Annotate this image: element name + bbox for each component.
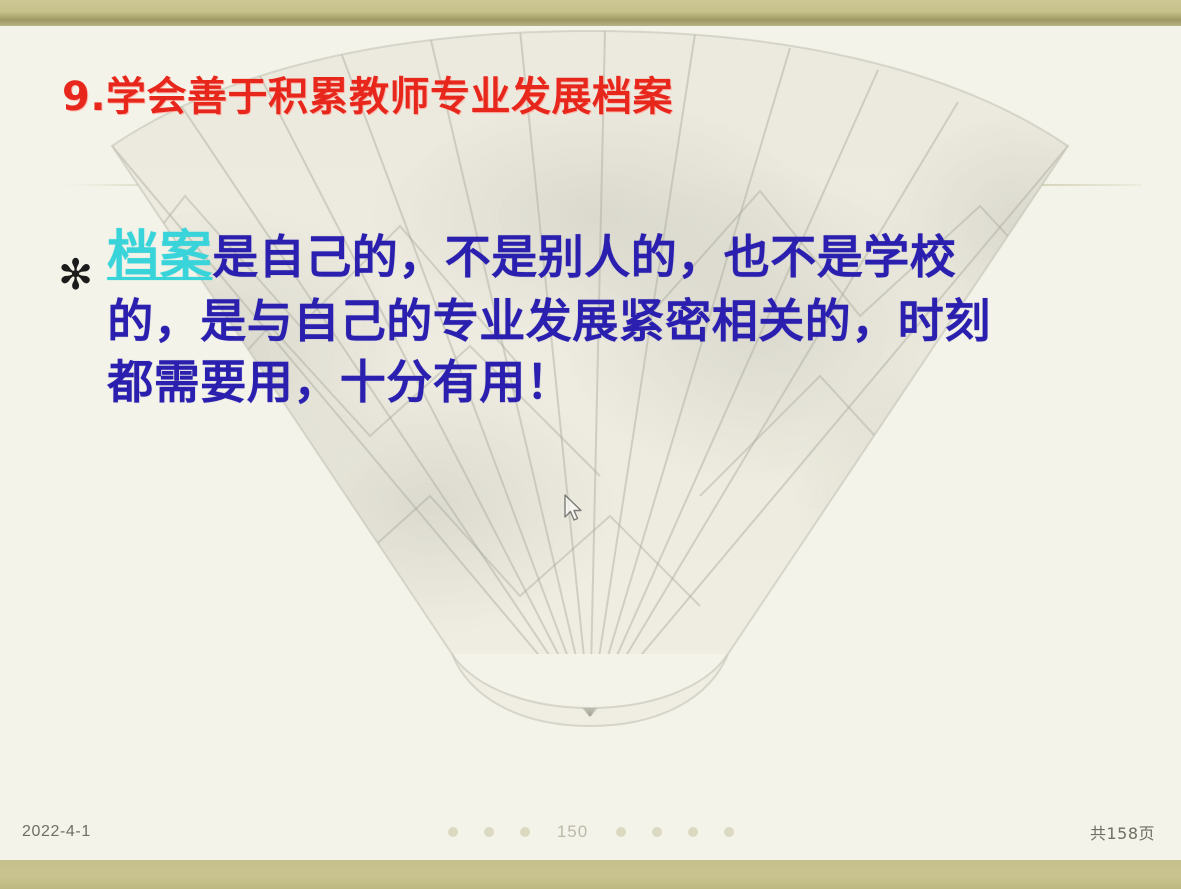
title-block: 9.学会善于积累教师专业发展档案	[0, 26, 1181, 121]
slide-viewer: 9.学会善于积累教师专业发展档案 ✻ 档案是自己的，不是别人的，也不是学校的，是…	[0, 0, 1181, 889]
pager-dot[interactable]	[616, 827, 626, 837]
pager-dot[interactable]	[520, 827, 530, 837]
mouse-cursor-icon	[563, 494, 585, 529]
footer-pager: 150	[0, 822, 1181, 842]
page-number: 150	[556, 822, 590, 842]
slide-canvas[interactable]: 9.学会善于积累教师专业发展档案 ✻ 档案是自己的，不是别人的，也不是学校的，是…	[0, 26, 1181, 860]
pager-dot[interactable]	[724, 827, 734, 837]
body-paragraph: 档案是自己的，不是别人的，也不是学校的，是与自己的专业发展紧密相关的，时刻都需要…	[107, 222, 1007, 414]
title-divider	[62, 184, 1142, 186]
pager-dot[interactable]	[484, 827, 494, 837]
fan-watermark-image	[0, 26, 1181, 860]
page-title: 9.学会善于积累教师专业发展档案	[62, 74, 1181, 121]
pager-dot[interactable]	[448, 827, 458, 837]
highlighted-keyword: 档案	[107, 226, 212, 286]
pager-dot[interactable]	[688, 827, 698, 837]
pager-dot[interactable]	[652, 827, 662, 837]
window-frame-top	[0, 0, 1181, 26]
total-pages-label: 共158页	[1090, 820, 1155, 844]
slide-footer: 2022-4-1 150 共158页	[0, 804, 1181, 860]
body-paragraph-rest: 是自己的，不是别人的，也不是学校的，是与自己的专业发展紧密相关的，时刻都需要用，…	[107, 230, 991, 409]
asterisk-bullet-icon: ✻	[58, 254, 93, 296]
body-block: ✻ 档案是自己的，不是别人的，也不是学校的，是与自己的专业发展紧密相关的，时刻都…	[0, 222, 1181, 414]
window-frame-bottom	[0, 860, 1181, 889]
